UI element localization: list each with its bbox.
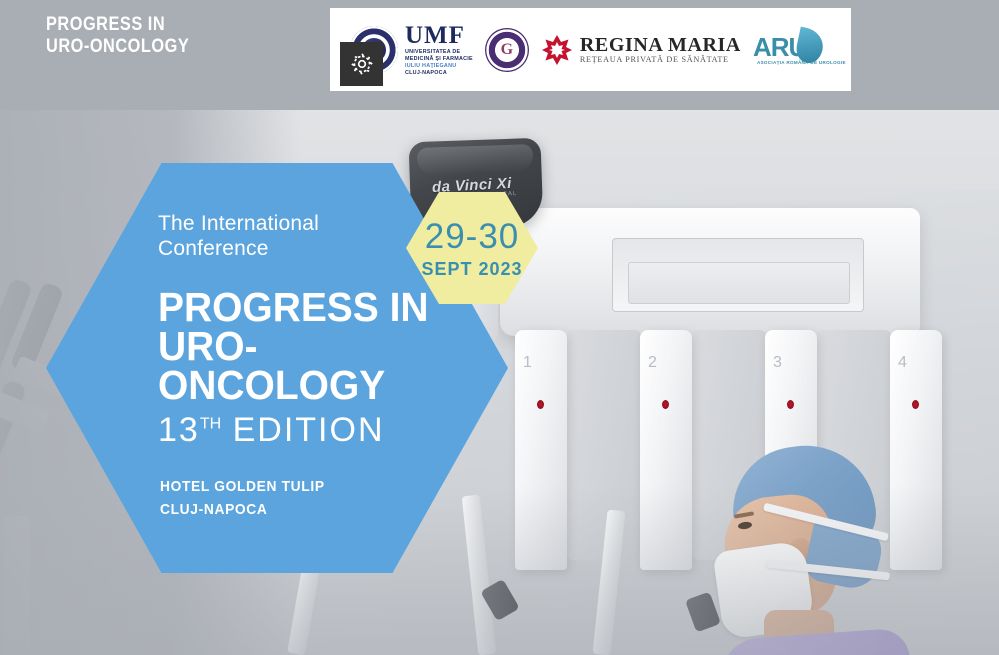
umf-line4: CLUJ-NAPOCA: [405, 71, 473, 76]
hero-title: PROGRESS IN URO-ONCOLOGY: [158, 288, 443, 406]
gear-icon: [350, 52, 374, 76]
hero-venue-line2: CLUJ-NAPOCA: [160, 499, 325, 522]
date-badge-days: 29-30: [425, 219, 520, 254]
umf-line1: UNIVERSITATEA DE: [405, 50, 473, 55]
hero-venue-line1: HOTEL GOLDEN TULIP: [160, 476, 325, 499]
star-icon: [541, 34, 573, 66]
umf-line2: MEDICINĂ ŞI FARMACIE: [405, 57, 473, 62]
hero-kicker-line1: The International: [158, 212, 458, 237]
partner-logo-bar: UMF UNIVERSITATEA DE MEDICINĂ ŞI FARMACI…: [330, 8, 851, 91]
robot-arm-number: 3: [773, 354, 782, 372]
robot-arm-number: 1: [523, 354, 532, 372]
robot-arm-led: [662, 400, 669, 409]
regina-maria-tagline: REȚEAUA PRIVATĂ DE SĂNĂTATE: [580, 56, 741, 65]
hero-edition-number: 13: [158, 411, 200, 449]
page-header: PROGRESS IN URO-ONCOLOGY UMF UNIVERSITAT…: [0, 0, 999, 110]
hero-venue: HOTEL GOLDEN TULIP CLUJ-NAPOCA: [160, 476, 325, 521]
site-logo[interactable]: PROGRESS IN URO-ONCOLOGY: [46, 14, 189, 59]
settings-button[interactable]: [340, 42, 383, 86]
hero-edition-word: EDITION: [233, 411, 385, 449]
circular-seal-icon: [485, 28, 529, 72]
robot-arm-led: [912, 400, 919, 409]
date-badge-month: SEPT 2023: [421, 260, 522, 278]
hero-edition-ordinal: TH: [200, 415, 221, 432]
hero-edition: 13TH EDITION: [158, 413, 458, 447]
site-logo-line2: URO-ONCOLOGY: [46, 36, 189, 58]
partner-logo-clinica[interactable]: [485, 28, 529, 72]
robot-arm-number: 2: [648, 354, 657, 372]
robot-arm-led: [537, 400, 544, 409]
robot-arm-number: 4: [898, 354, 907, 372]
aru-tagline: ASOCIAȚIA ROMÂNĂ DE UROLOGIE: [757, 60, 846, 65]
hero-title-line1: PROGRESS IN: [158, 288, 443, 327]
site-logo-line1: PROGRESS IN: [46, 14, 189, 36]
regina-maria-name: REGINA MARIA: [580, 34, 741, 56]
partner-logo-regina-maria[interactable]: REGINA MARIA REȚEAUA PRIVATĂ DE SĂNĂTATE: [541, 34, 741, 66]
robot-boom-panel-inner: [628, 262, 850, 304]
hero-title-line2: URO-ONCOLOGY: [158, 327, 443, 406]
umf-line3: IULIU HAŢIEGANU: [405, 64, 473, 69]
partner-logo-aru[interactable]: ARU ASOCIAȚIA ROMÂNĂ DE UROLOGIE: [753, 28, 831, 72]
umf-acronym: UMF: [405, 23, 473, 48]
robot-arm-led: [787, 400, 794, 409]
